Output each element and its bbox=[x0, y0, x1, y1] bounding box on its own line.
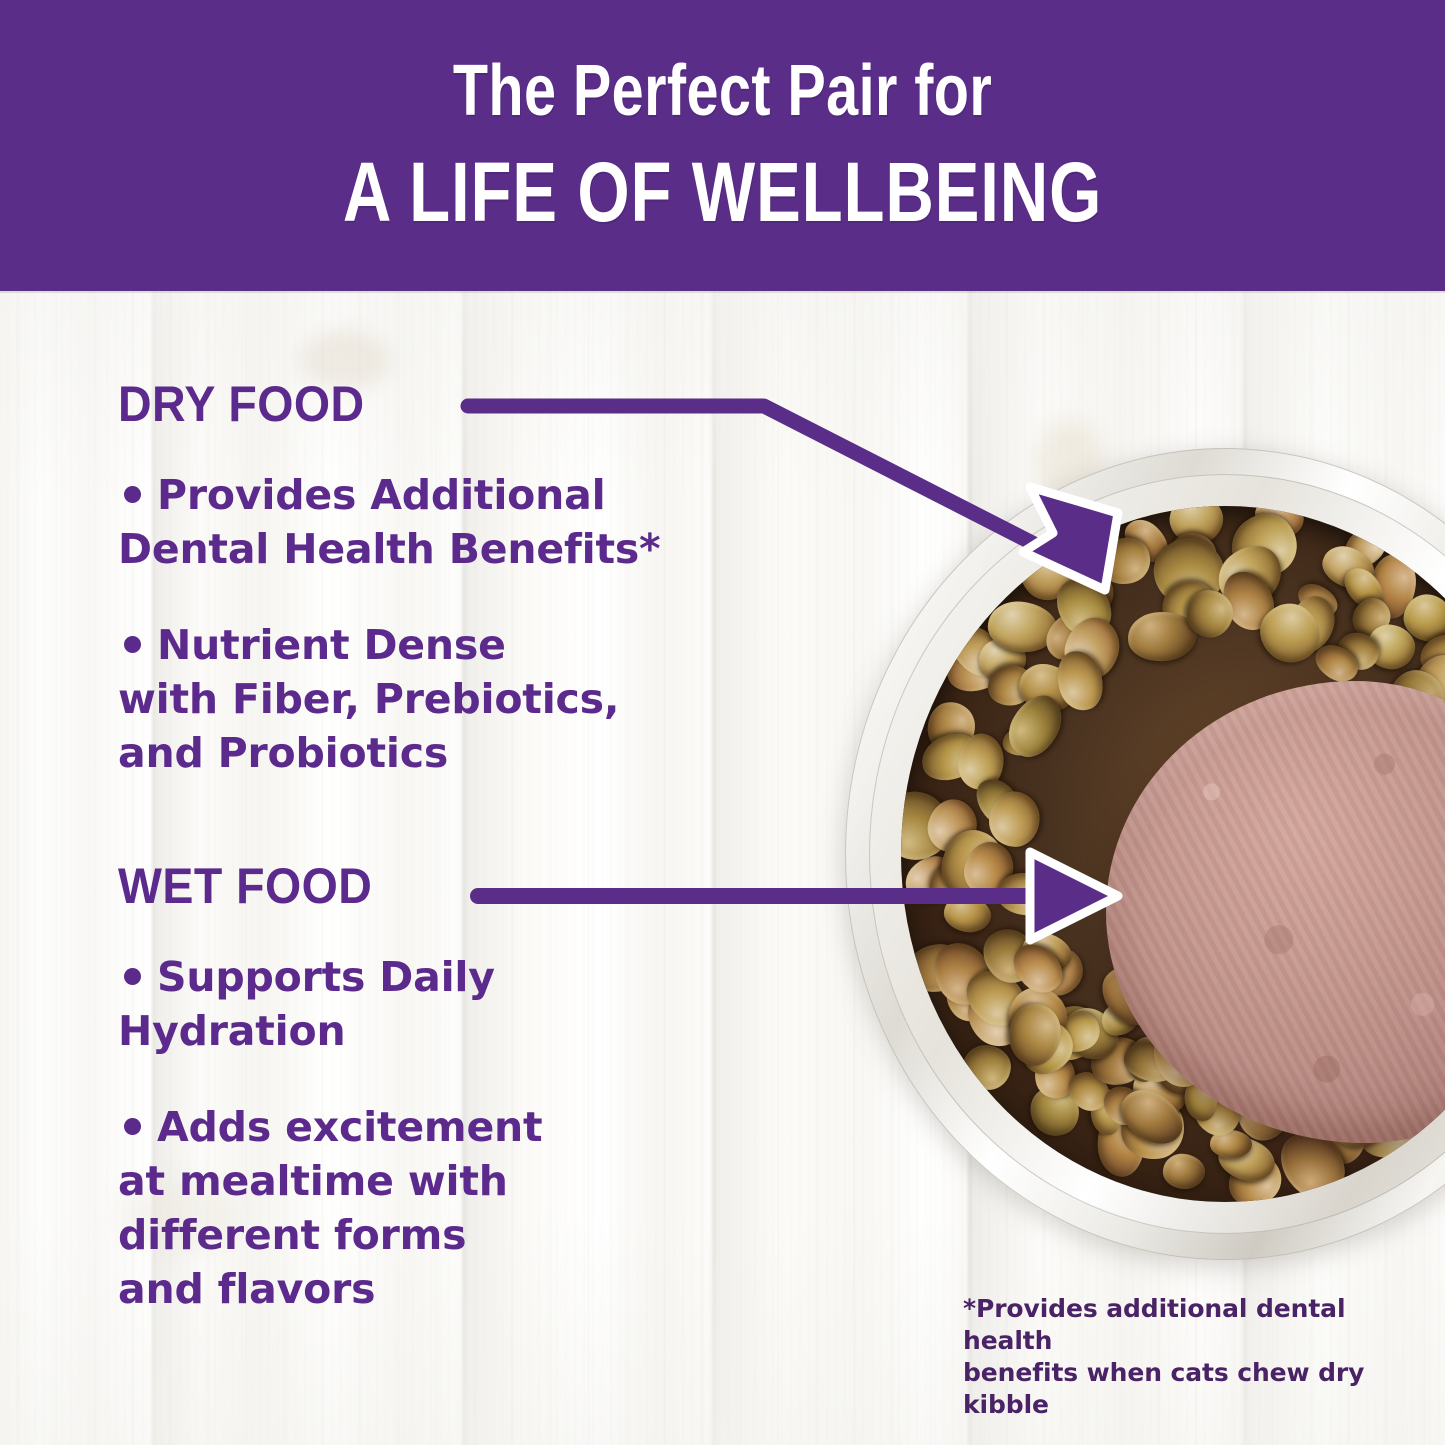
list-item: Supports Daily Hydration bbox=[118, 950, 718, 1058]
list-item: Adds excitement at mealtime with differe… bbox=[118, 1100, 718, 1316]
infographic-canvas: The Perfect Pair for A LIFE OF WELLBEING bbox=[0, 0, 1445, 1445]
footnote: *Provides additional dental health benef… bbox=[963, 1293, 1393, 1421]
bullet-text-line: Hydration bbox=[118, 1007, 345, 1055]
bullet-text-line: Supports Daily bbox=[157, 953, 495, 1001]
header-banner: The Perfect Pair for A LIFE OF WELLBEING bbox=[0, 0, 1445, 291]
bullet-text-line: Adds excitement bbox=[157, 1103, 542, 1151]
bullet-text-line: at mealtime with bbox=[118, 1157, 508, 1205]
bullet-dot-icon bbox=[124, 968, 141, 985]
list-item: Provides Additional Dental Health Benefi… bbox=[118, 468, 798, 576]
bullet-text-line: Provides Additional bbox=[157, 471, 605, 519]
dry-food-heading: DRY FOOD bbox=[118, 378, 365, 430]
header-title-line-2: A LIFE OF WELLBEING bbox=[145, 146, 1301, 238]
bullet-text-line: different forms bbox=[118, 1211, 466, 1259]
bullet-text-line: and Probiotics bbox=[118, 729, 448, 777]
wet-food-bullet-list: Supports Daily Hydration Adds excitement… bbox=[118, 950, 718, 1346]
header-text-block: The Perfect Pair for A LIFE OF WELLBEING bbox=[0, 52, 1445, 238]
header-title-line-1: The Perfect Pair for bbox=[145, 52, 1301, 130]
bullet-dot-icon bbox=[124, 486, 141, 503]
wet-food-heading: WET FOOD bbox=[118, 860, 372, 912]
dry-food-bullet-list: Provides Additional Dental Health Benefi… bbox=[118, 468, 798, 810]
bullet-text-line: with Fiber, Prebiotics, bbox=[118, 675, 619, 723]
bullet-text-line: Nutrient Dense bbox=[157, 621, 506, 669]
bullet-dot-icon bbox=[124, 1118, 141, 1135]
footnote-line-2: benefits when cats chew dry kibble bbox=[963, 1357, 1393, 1421]
footnote-line-1: *Provides additional dental health bbox=[963, 1293, 1393, 1357]
bullet-dot-icon bbox=[124, 636, 141, 653]
bullet-text-line: and flavors bbox=[118, 1265, 375, 1313]
list-item: Nutrient Dense with Fiber, Prebiotics, a… bbox=[118, 618, 798, 780]
bullet-text-line: Dental Health Benefits* bbox=[118, 525, 660, 573]
